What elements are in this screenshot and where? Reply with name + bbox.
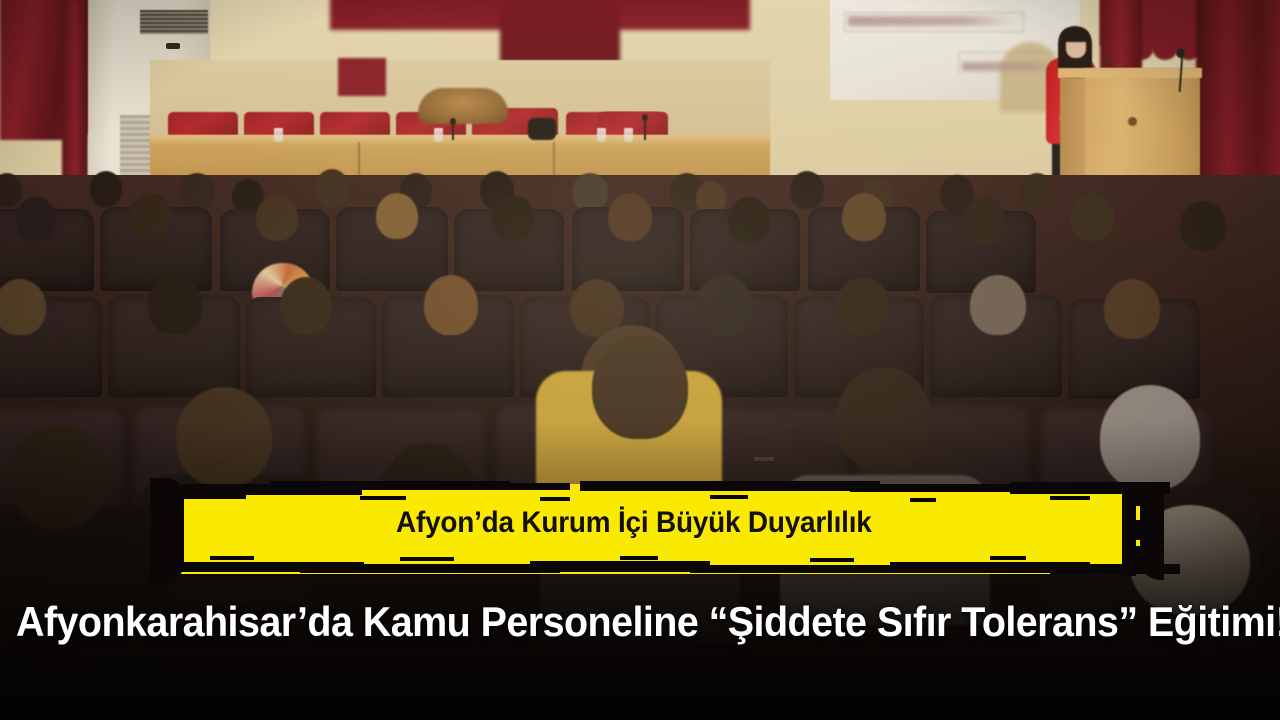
- screenshot-root: Afyon’da Kurum İçi Büyük Duyarlılık Afyo…: [0, 0, 1280, 720]
- headline-text: Afyonkarahisar’da Kamu Personeline “Şidd…: [16, 598, 1200, 654]
- kicker-text: Afyon’da Kurum İçi Büyük Duyarlılık: [396, 506, 917, 554]
